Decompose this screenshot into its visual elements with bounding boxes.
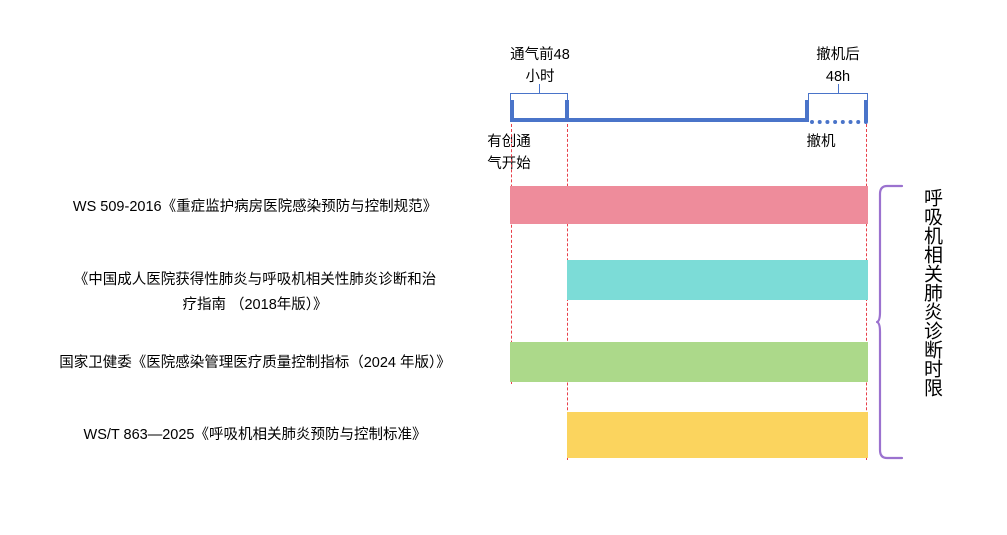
diagnosis-window-title: 呼吸机相关肺炎诊断时限 (918, 188, 944, 397)
timeline-baseline (510, 118, 808, 122)
duration-bar-ws-t-863-2025 (567, 412, 868, 458)
timeline-dotted-extension (810, 120, 868, 124)
post-extubation-bracket-stem (838, 84, 839, 94)
figure-canvas: 通气前48 小时 撤机后 48h 有创通 气开始 撤机 WS 509-2016《… (0, 0, 1007, 535)
guideline-label-ws-t-863-2025: WS/T 863—2025《呼吸机相关肺炎预防与控制标准》 (20, 423, 490, 448)
extubation-label: 撤机 (781, 131, 861, 153)
tick-extubation (805, 100, 809, 122)
post-extubation-48h-label: 撤机后 48h (792, 44, 884, 88)
diagnosis-window-brace (876, 184, 904, 460)
pre-ventilation-48h-label: 通气前48 小时 (492, 44, 588, 88)
guideline-label-ws-509-2016: WS 509-2016《重症监护病房医院感染预防与控制规范》 (20, 195, 490, 220)
guideline-label-nhc-qc-2024: 国家卫健委《医院感染管理医疗质量控制指标（2024 年版）》 (10, 351, 500, 376)
pre-ventilation-bracket (510, 93, 568, 102)
tick-post48 (864, 100, 868, 122)
duration-bar-nhc-qc-2024 (510, 342, 868, 382)
duration-bar-ws-509-2016 (510, 186, 868, 224)
pre-ventilation-bracket-stem (539, 84, 540, 94)
ventilation-start-label: 有创通 气开始 (466, 131, 552, 175)
tick-ventilation-start (565, 100, 569, 122)
duration-bar-hap-vap-2018 (567, 260, 868, 300)
guideline-label-hap-vap-2018: 《中国成人医院获得性肺炎与呼吸机相关性肺炎诊断和治 疗指南 （2018年版）》 (20, 268, 490, 318)
tick-pre48 (510, 100, 514, 122)
post-extubation-bracket (808, 93, 868, 102)
